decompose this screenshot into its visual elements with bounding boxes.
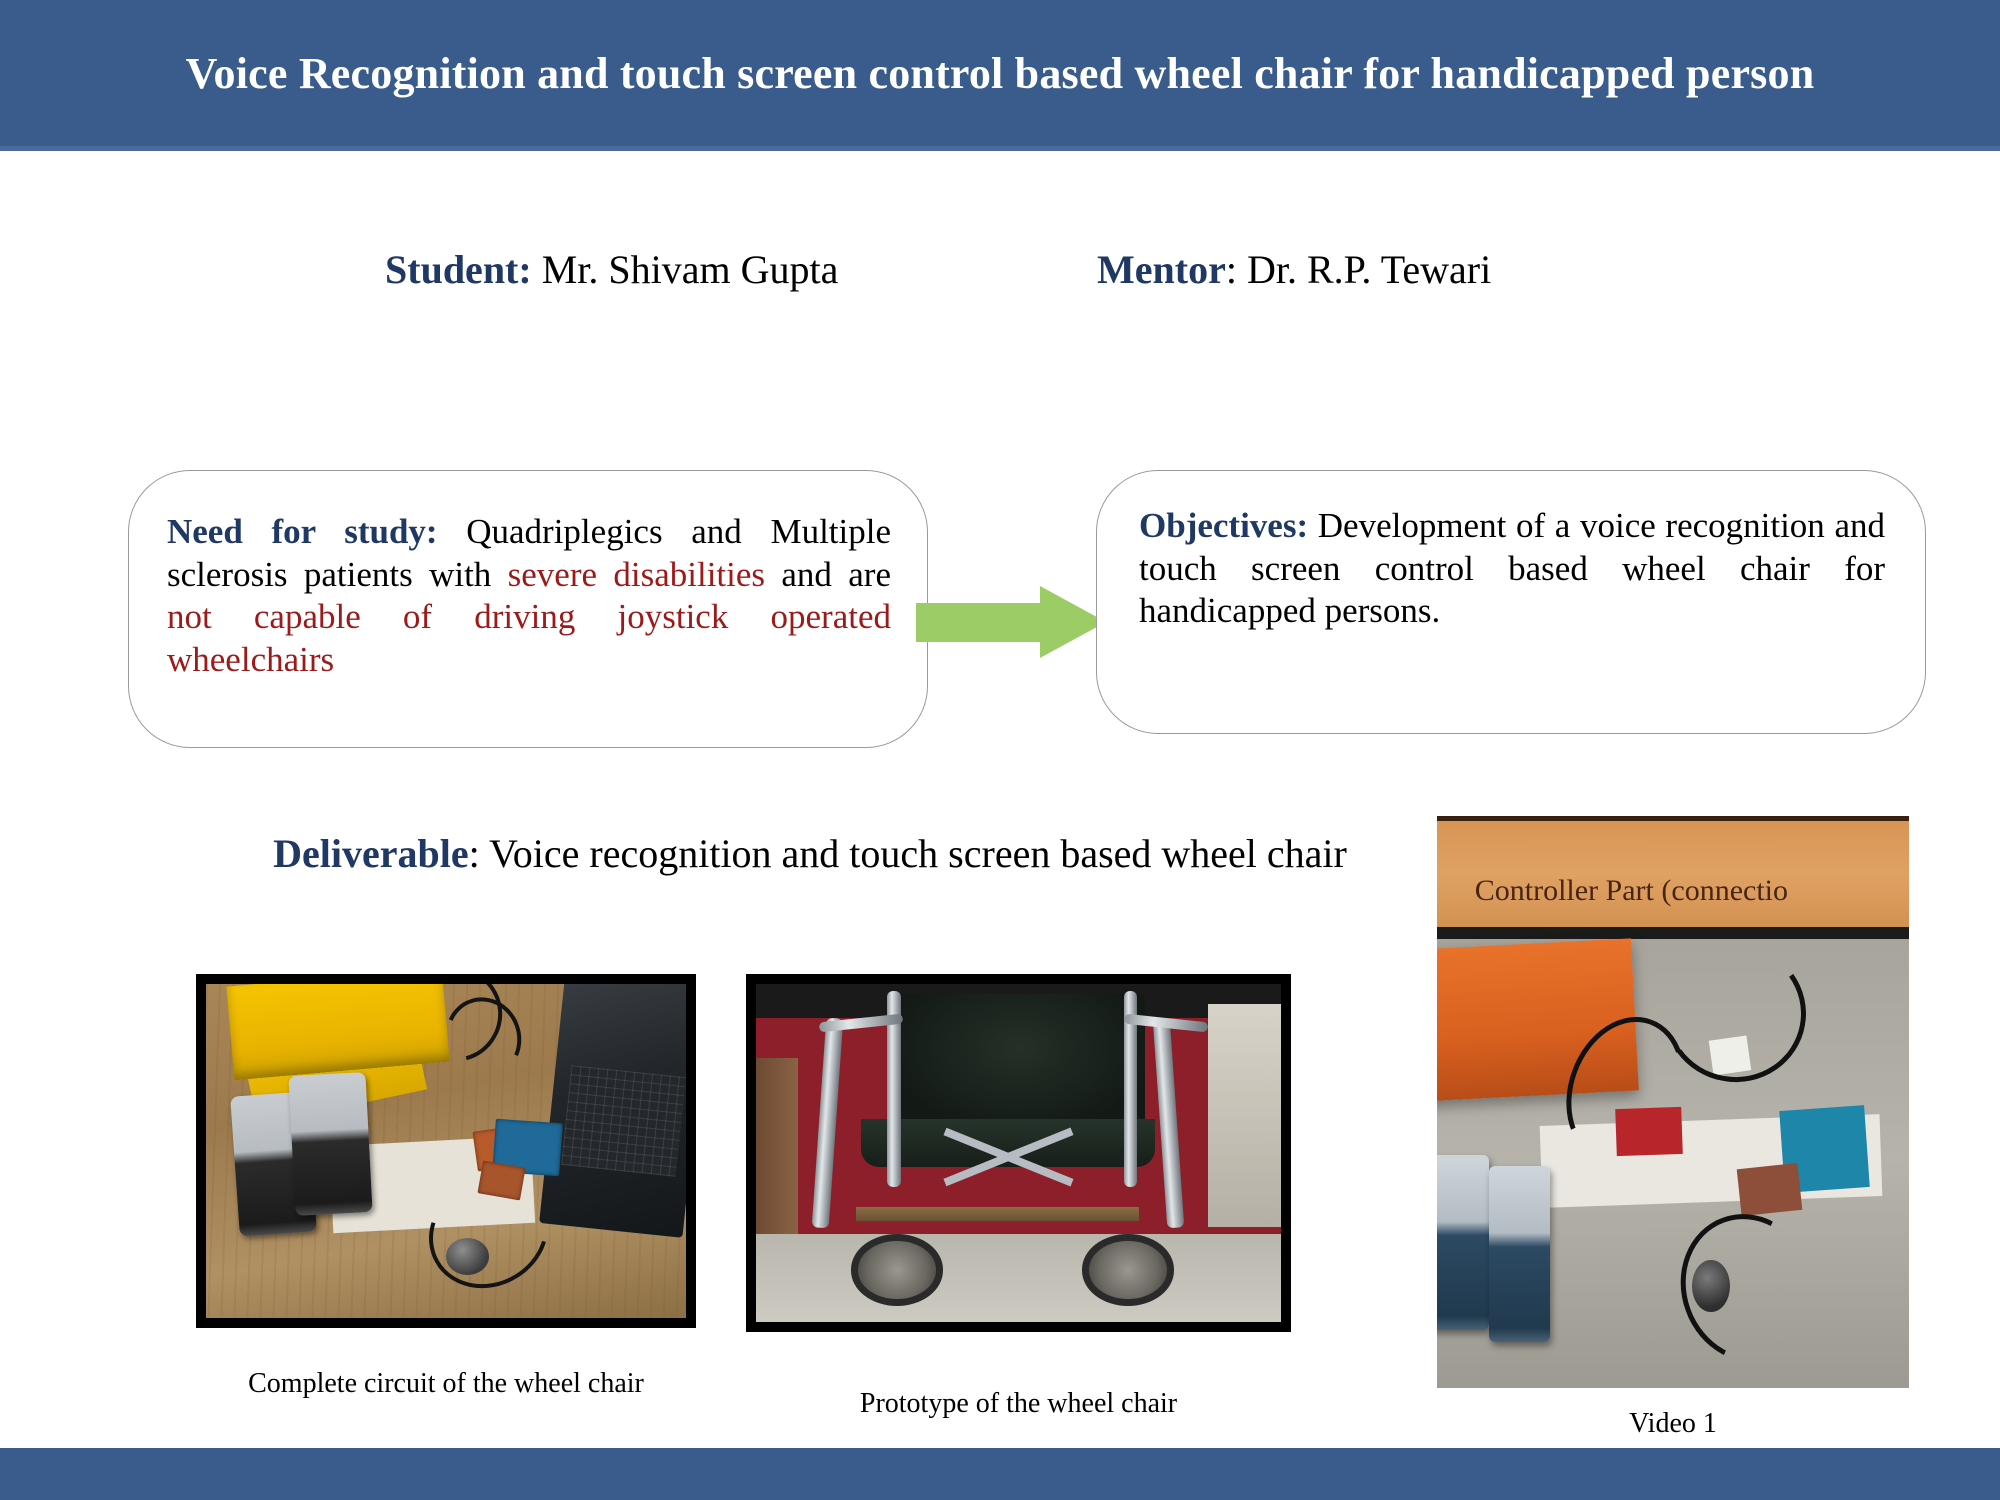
wheelchair-scene: [756, 984, 1281, 1322]
sign-shadow-strip: [1437, 927, 1909, 939]
deliverable-text: : Voice recognition and touch screen bas…: [469, 831, 1347, 876]
controller-video-frame: Controller Part (connectio: [1437, 816, 1909, 1400]
need-for-study-heading: Need for study:: [167, 512, 438, 551]
prototype-photo-image: [756, 984, 1281, 1322]
prototype-caption: Prototype of the wheel chair: [746, 1388, 1291, 1420]
people-row: Student: Mr. Shivam Gupta Mentor: Dr. R.…: [0, 250, 2000, 310]
dc-motor-2: [289, 1072, 373, 1216]
need-text-2: and are: [765, 555, 891, 594]
footer-band: [0, 1448, 2000, 1500]
prototype-photo: [746, 974, 1291, 1332]
background-furniture: [1208, 1004, 1282, 1227]
cable-junction-knob: [446, 1238, 489, 1275]
need-red-2: not capable of driving joystick operated…: [167, 597, 891, 679]
deliverable-heading: Deliverable: Voice recognition and touch…: [200, 828, 1420, 879]
circuit-scene: [206, 984, 686, 1318]
video-brown-circuit-board: [1737, 1163, 1803, 1216]
arrow-shaft: [916, 603, 1044, 642]
page-title: Voice Recognition and touch screen contr…: [0, 0, 2000, 146]
wheel-right: [1082, 1234, 1175, 1305]
header-underline: [0, 146, 2000, 151]
laptop-keyboard: [561, 1065, 686, 1177]
video-caption: Video 1: [1437, 1408, 1909, 1440]
complete-circuit-caption: Complete circuit of the wheel chair: [196, 1368, 696, 1400]
objectives-box: Objectives: Development of a voice recog…: [1096, 470, 1926, 734]
need-for-study-text: Need for study: Quadriplegics and Multip…: [167, 511, 891, 682]
complete-circuit-photo-image: [206, 984, 686, 1318]
objectives-heading: Objectives:: [1139, 506, 1308, 545]
wheel-left: [851, 1234, 944, 1305]
controller-video[interactable]: Controller Part (connectio: [1437, 816, 1909, 1406]
video-cable-junction-knob: [1692, 1260, 1730, 1313]
floor: [756, 1234, 1281, 1322]
mentor-entry: Mentor: Dr. R.P. Tewari: [1097, 250, 1491, 290]
mentor-name: : Dr. R.P. Tewari: [1226, 247, 1491, 292]
need-for-study-box: Need for study: Quadriplegics and Multip…: [128, 470, 928, 748]
student-label: Student:: [385, 247, 532, 292]
deliverable-label: Deliverable: [273, 831, 469, 876]
wooden-sign: Controller Part (connectio: [1437, 816, 1909, 938]
video-dc-motor-2: [1489, 1166, 1550, 1341]
need-red-1: severe disabilities: [508, 555, 765, 594]
objectives-text: Objectives: Development of a voice recog…: [1139, 505, 1885, 633]
student-entry: Student: Mr. Shivam Gupta: [385, 250, 838, 290]
right-arrow-icon: [916, 586, 1106, 658]
mentor-label: Mentor: [1097, 247, 1226, 292]
student-name: Mr. Shivam Gupta: [532, 247, 839, 292]
wheelchair-backrest: [893, 994, 1145, 1129]
video-overlay-text: Controller Part (connectio: [1475, 874, 1788, 908]
complete-circuit-photo: [196, 974, 696, 1328]
footboard: [856, 1207, 1140, 1221]
video-dc-motor-1: [1437, 1155, 1489, 1330]
